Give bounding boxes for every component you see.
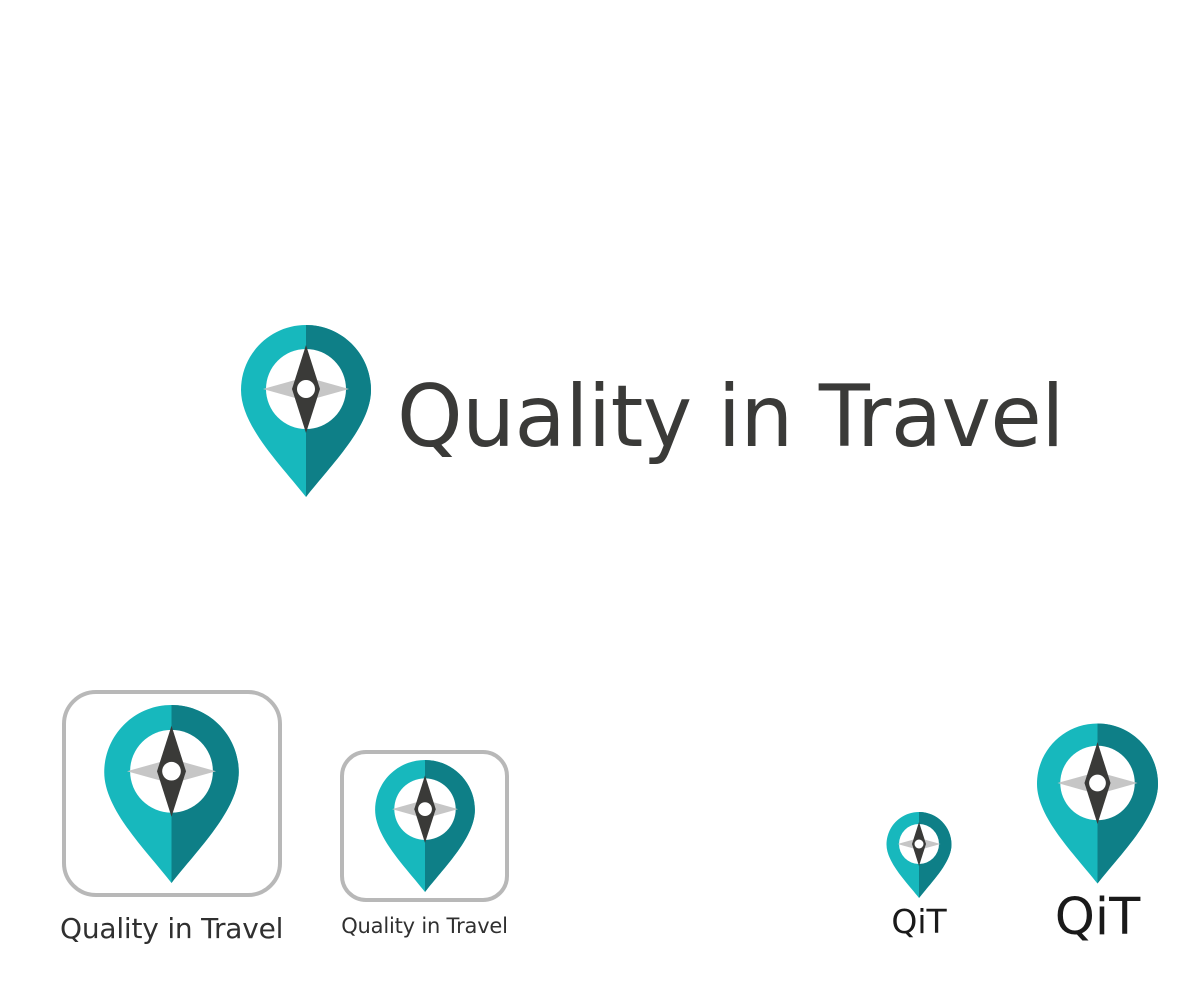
brand-wordmark: Quality in Travel <box>397 374 1064 460</box>
app-icon-label: Quality in Travel <box>60 915 283 943</box>
app-icon-label: Quality in Travel <box>341 916 508 937</box>
app-icon-tile <box>62 690 282 897</box>
app-icon-variant-large: Quality in Travel <box>60 690 283 943</box>
logo-presentation-canvas: Quality in Travel Quality in Travel <box>0 0 1199 1000</box>
map-pin-compass-icon <box>878 812 960 898</box>
primary-logo-lockup: Quality in Travel <box>241 325 1085 497</box>
monogram-label: QiT <box>1055 892 1140 943</box>
map-pin-compass-icon <box>375 760 475 892</box>
map-pin-compass-icon <box>241 325 371 497</box>
map-pin-compass-icon <box>104 705 239 883</box>
monogram-variant-small: QiT <box>878 812 960 938</box>
app-icon-variant-small: Quality in Travel <box>340 750 509 937</box>
monogram-label: QiT <box>891 905 946 938</box>
map-pin-compass-icon <box>1037 722 1158 885</box>
monogram-variant-large: QiT <box>1037 722 1158 943</box>
app-icon-tile <box>340 750 509 902</box>
